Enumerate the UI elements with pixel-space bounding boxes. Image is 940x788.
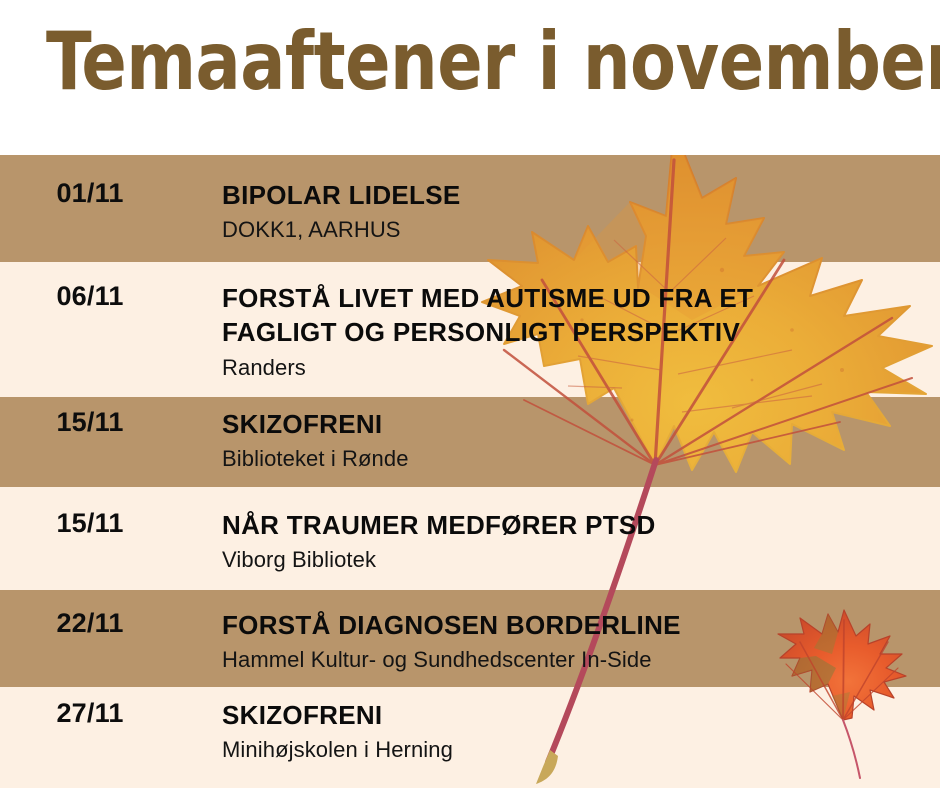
title-band: Temaaftener i november bbox=[0, 0, 940, 155]
small-maple-leaf-icon bbox=[770, 606, 910, 782]
large-maple-leaf-stem-icon bbox=[500, 450, 700, 788]
poster-canvas: Temaaftener i november 01/11 BIPOLAR LID… bbox=[0, 0, 940, 788]
page-title: Temaaftener i november bbox=[46, 22, 940, 102]
